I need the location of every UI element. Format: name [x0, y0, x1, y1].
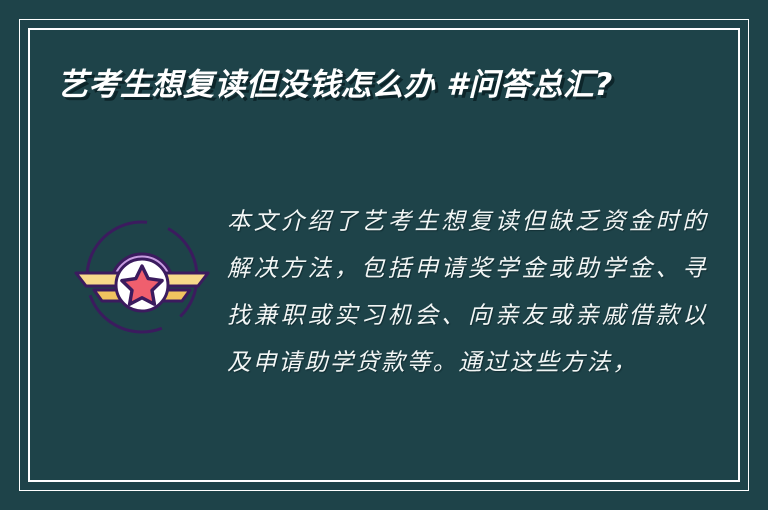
badge-cell: [57, 196, 227, 340]
winged-star-badge-icon: [68, 214, 216, 340]
article-cover-card: 艺考生想复读但没钱怎么办 #问答总汇?: [0, 0, 768, 510]
title-block: 艺考生想复读但没钱怎么办 #问答总汇?: [57, 64, 657, 107]
content-row: 本文介绍了艺考生想复读但缺乏资金时的解决方法，包括申请奖学金或助学金、寻找兼职或…: [57, 196, 708, 386]
article-summary-text: 本文介绍了艺考生想复读但缺乏资金时的解决方法，包括申请奖学金或助学金、寻找兼职或…: [227, 196, 708, 386]
page-title: 艺考生想复读但没钱怎么办 #问答总汇?: [57, 64, 657, 107]
